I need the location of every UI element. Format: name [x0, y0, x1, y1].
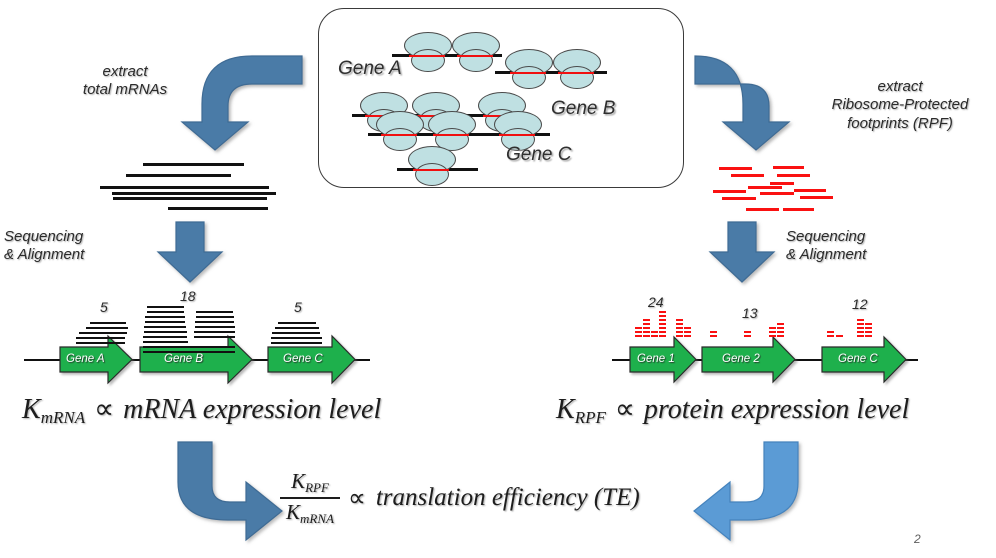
rpf-pileup-bar — [769, 331, 776, 333]
ribosome — [505, 49, 551, 89]
read-pileup-bar — [195, 321, 234, 323]
rpf-fragment — [783, 208, 814, 211]
ribosome-mrna-bar — [433, 134, 469, 137]
denominator-k: K — [286, 500, 300, 524]
ribosome — [408, 146, 454, 186]
rpf-pileup-bar — [651, 335, 658, 337]
read-pileup-bar — [147, 311, 184, 313]
k-mrna-equation: KmRNA∝mRNA expression level — [22, 392, 381, 428]
rpf-pileup-bar — [857, 319, 864, 321]
ribosome-mrna-bar — [381, 134, 417, 137]
rpf-pileup-bar — [744, 331, 751, 333]
rpf-pileup-bar — [684, 335, 691, 337]
rpf-fragment — [777, 174, 810, 177]
page-number: 2 — [914, 532, 921, 546]
te-right-arrow-icon — [690, 442, 806, 544]
ribosome-mrna-bar — [499, 134, 535, 137]
rpf-pileup-bar — [643, 327, 650, 329]
rpf-pileup-bar — [676, 335, 683, 337]
read-count-gene-a-left: 5 — [100, 299, 108, 315]
rpf-pileup-bar — [659, 335, 666, 337]
read-pileup-bar — [76, 342, 125, 344]
gene-arrow-2-right-label: Gene 2 — [722, 353, 760, 365]
extract-mrna-arrow-icon — [178, 58, 302, 148]
te-numerator: KRPF — [285, 470, 335, 495]
rpf-pileup-bar — [676, 331, 683, 333]
ribosome-mrna-bar — [457, 55, 493, 58]
rpf-pileup-bar — [865, 331, 872, 333]
read-pileup-bar — [195, 326, 235, 328]
rpf-pileup-bar — [643, 319, 650, 321]
k-subscript: RPF — [575, 408, 606, 427]
proportional-symbol: ∝ — [340, 483, 376, 513]
read-count-gene-2-right: 13 — [742, 305, 758, 321]
read-pileup-bar — [196, 311, 233, 313]
rpf-pileup-bar — [857, 323, 864, 325]
extract-rpf-arrow-icon — [695, 48, 819, 148]
read-count-gene-b-left: 18 — [180, 288, 196, 304]
rpf-pileup-bar — [651, 331, 658, 333]
read-pileup-bar — [143, 336, 187, 338]
ribosome-small-subunit — [512, 66, 546, 89]
mrna-fragment — [112, 192, 276, 195]
rpf-pileup-bar — [659, 327, 666, 329]
slide-canvas: Gene A Gene B Gene C — [0, 0, 996, 558]
read-pileup-bar — [76, 337, 125, 339]
read-pileup-bar — [145, 321, 185, 323]
polysome-gene-a-label: Gene A — [338, 58, 402, 80]
rpf-pileup-bar — [777, 327, 784, 329]
rpf-pileup-bar — [744, 335, 751, 337]
read-pileup-bar — [90, 322, 126, 324]
read-pileup-bar — [86, 327, 128, 329]
rpf-fragment — [731, 174, 764, 177]
rpf-pileup-bar — [857, 331, 864, 333]
te-denominator: KmRNA — [280, 501, 340, 526]
rpf-pileup-bar — [710, 335, 717, 337]
mrna-fragment — [143, 163, 244, 166]
rpf-pileup-bar — [635, 327, 642, 329]
rpf-fragment — [800, 196, 833, 199]
polysome-gene-c-label: Gene C — [506, 144, 571, 166]
ribosome-small-subunit — [459, 49, 493, 72]
translation-efficiency-equation: KRPF KmRNA ∝ translation efficiency (TE) — [280, 470, 640, 526]
rpf-pileup-bar — [777, 331, 784, 333]
rpf-pileup-bar — [659, 311, 666, 313]
read-count-gene-1-right: 24 — [648, 294, 664, 310]
read-pileup-bar — [145, 316, 185, 318]
gene-arrow-a-left-label: Gene A — [66, 353, 105, 365]
k-rpf-equation: KRPF∝protein expression level — [556, 392, 909, 428]
ribosome-mrna-bar — [510, 72, 546, 75]
rpf-pileup-bar — [777, 335, 784, 337]
extract-total-mrnas-label: extract total mRNAs — [60, 63, 190, 100]
extract-rpf-label: extract Ribosome-Protected footprints (R… — [810, 78, 990, 133]
read-pileup-bar — [143, 341, 188, 343]
ribosome — [376, 111, 422, 151]
te-left-arrow-icon — [170, 442, 286, 544]
read-pileup-bar — [143, 351, 235, 353]
rpf-pileup-bar — [777, 323, 784, 325]
read-pileup-bar — [275, 327, 319, 329]
denominator-subscript: mRNA — [300, 511, 334, 526]
ribosome-mrna-bar — [558, 72, 594, 75]
rpf-pileup-bar — [635, 335, 642, 337]
rpf-fragment — [722, 197, 756, 200]
rpf-fragment — [748, 186, 782, 189]
equation-text: mRNA expression level — [123, 394, 381, 425]
read-pileup-bar — [196, 316, 234, 318]
rpf-fragment — [794, 189, 826, 192]
rpf-pileup-bar — [769, 327, 776, 329]
rpf-pileup-bar — [643, 323, 650, 325]
read-pileup-bar — [278, 322, 316, 324]
rpf-pileup-bar — [659, 323, 666, 325]
rpf-pileup-bar — [836, 335, 843, 337]
gene-arrow-c-left-label: Gene C — [283, 353, 323, 365]
read-pileup-bar — [143, 346, 235, 348]
ribosome — [553, 49, 599, 89]
ribosome-small-subunit — [411, 49, 445, 72]
rpf-fragment — [713, 190, 746, 193]
rpf-fragment — [773, 166, 804, 169]
rpf-pileup-bar — [684, 327, 691, 329]
sequencing-alignment-arrow-left-icon — [156, 222, 224, 284]
mrna-fragment — [126, 174, 231, 177]
mrna-fragment — [113, 197, 267, 200]
rpf-pileup-bar — [643, 335, 650, 337]
sequencing-alignment-label-left: Sequencing & Alignment — [4, 228, 146, 265]
read-pileup-bar — [147, 306, 184, 308]
polysome-gene-b-label: Gene B — [551, 98, 615, 120]
rpf-pileup-bar — [676, 323, 683, 325]
read-pileup-bar — [79, 332, 127, 334]
ribosome-small-subunit — [415, 163, 449, 186]
gene-arrow-1-right-label: Gene 1 — [637, 353, 675, 365]
read-pileup-bar — [271, 342, 322, 344]
ribosome — [428, 111, 474, 151]
rpf-fragment — [760, 192, 794, 195]
numerator-k: K — [291, 469, 305, 493]
rpf-fragment — [770, 182, 794, 185]
rpf-pileup-bar — [857, 335, 864, 337]
ribosome — [452, 32, 498, 72]
rpf-pileup-bar — [827, 335, 834, 337]
k-symbol: K — [556, 394, 575, 425]
proportional-symbol: ∝ — [606, 394, 644, 425]
rpf-pileup-bar — [676, 319, 683, 321]
read-count-gene-c-right: 12 — [852, 296, 868, 312]
read-pileup-bar — [144, 326, 186, 328]
te-text: translation efficiency (TE) — [376, 484, 640, 512]
sequencing-alignment-arrow-right-icon — [708, 222, 776, 284]
rpf-pileup-bar — [635, 331, 642, 333]
rpf-pileup-bar — [643, 331, 650, 333]
fraction-bar — [280, 497, 340, 499]
rpf-fragment — [746, 208, 779, 211]
ribosome-mrna-bar — [413, 169, 449, 172]
read-pileup-bar — [194, 336, 235, 338]
rpf-pileup-bar — [684, 331, 691, 333]
rpf-pileup-bar — [865, 327, 872, 329]
read-count-gene-c-left: 5 — [294, 299, 302, 315]
equation-text: protein expression level — [644, 394, 909, 425]
read-pileup-bar — [272, 332, 320, 334]
ribosome-small-subunit — [560, 66, 594, 89]
ribosome — [404, 32, 450, 72]
rpf-pileup-bar — [659, 319, 666, 321]
proportional-symbol: ∝ — [85, 394, 123, 425]
mrna-fragment — [168, 207, 268, 210]
ribosome-mrna-bar — [409, 55, 445, 58]
sequencing-alignment-label-right: Sequencing & Alignment — [786, 228, 936, 265]
rpf-pileup-bar — [676, 327, 683, 329]
rpf-pileup-bar — [865, 335, 872, 337]
read-pileup-bar — [194, 331, 235, 333]
numerator-subscript: RPF — [305, 480, 329, 495]
rpf-pileup-bar — [827, 331, 834, 333]
gene-arrow-b-left-label: Gene B — [164, 353, 203, 365]
rpf-pileup-bar — [710, 331, 717, 333]
k-symbol: K — [22, 394, 41, 425]
mrna-fragment — [100, 186, 269, 189]
rpf-pileup-bar — [857, 327, 864, 329]
rpf-pileup-bar — [865, 323, 872, 325]
rpf-pileup-bar — [659, 315, 666, 317]
rpf-fragment — [719, 167, 752, 170]
read-pileup-bar — [144, 331, 187, 333]
rpf-pileup-bar — [769, 335, 776, 337]
rpf-pileup-bar — [659, 331, 666, 333]
read-pileup-bar — [271, 337, 322, 339]
gene-arrow-c-right-label: Gene C — [838, 353, 878, 365]
k-subscript: mRNA — [41, 408, 85, 427]
